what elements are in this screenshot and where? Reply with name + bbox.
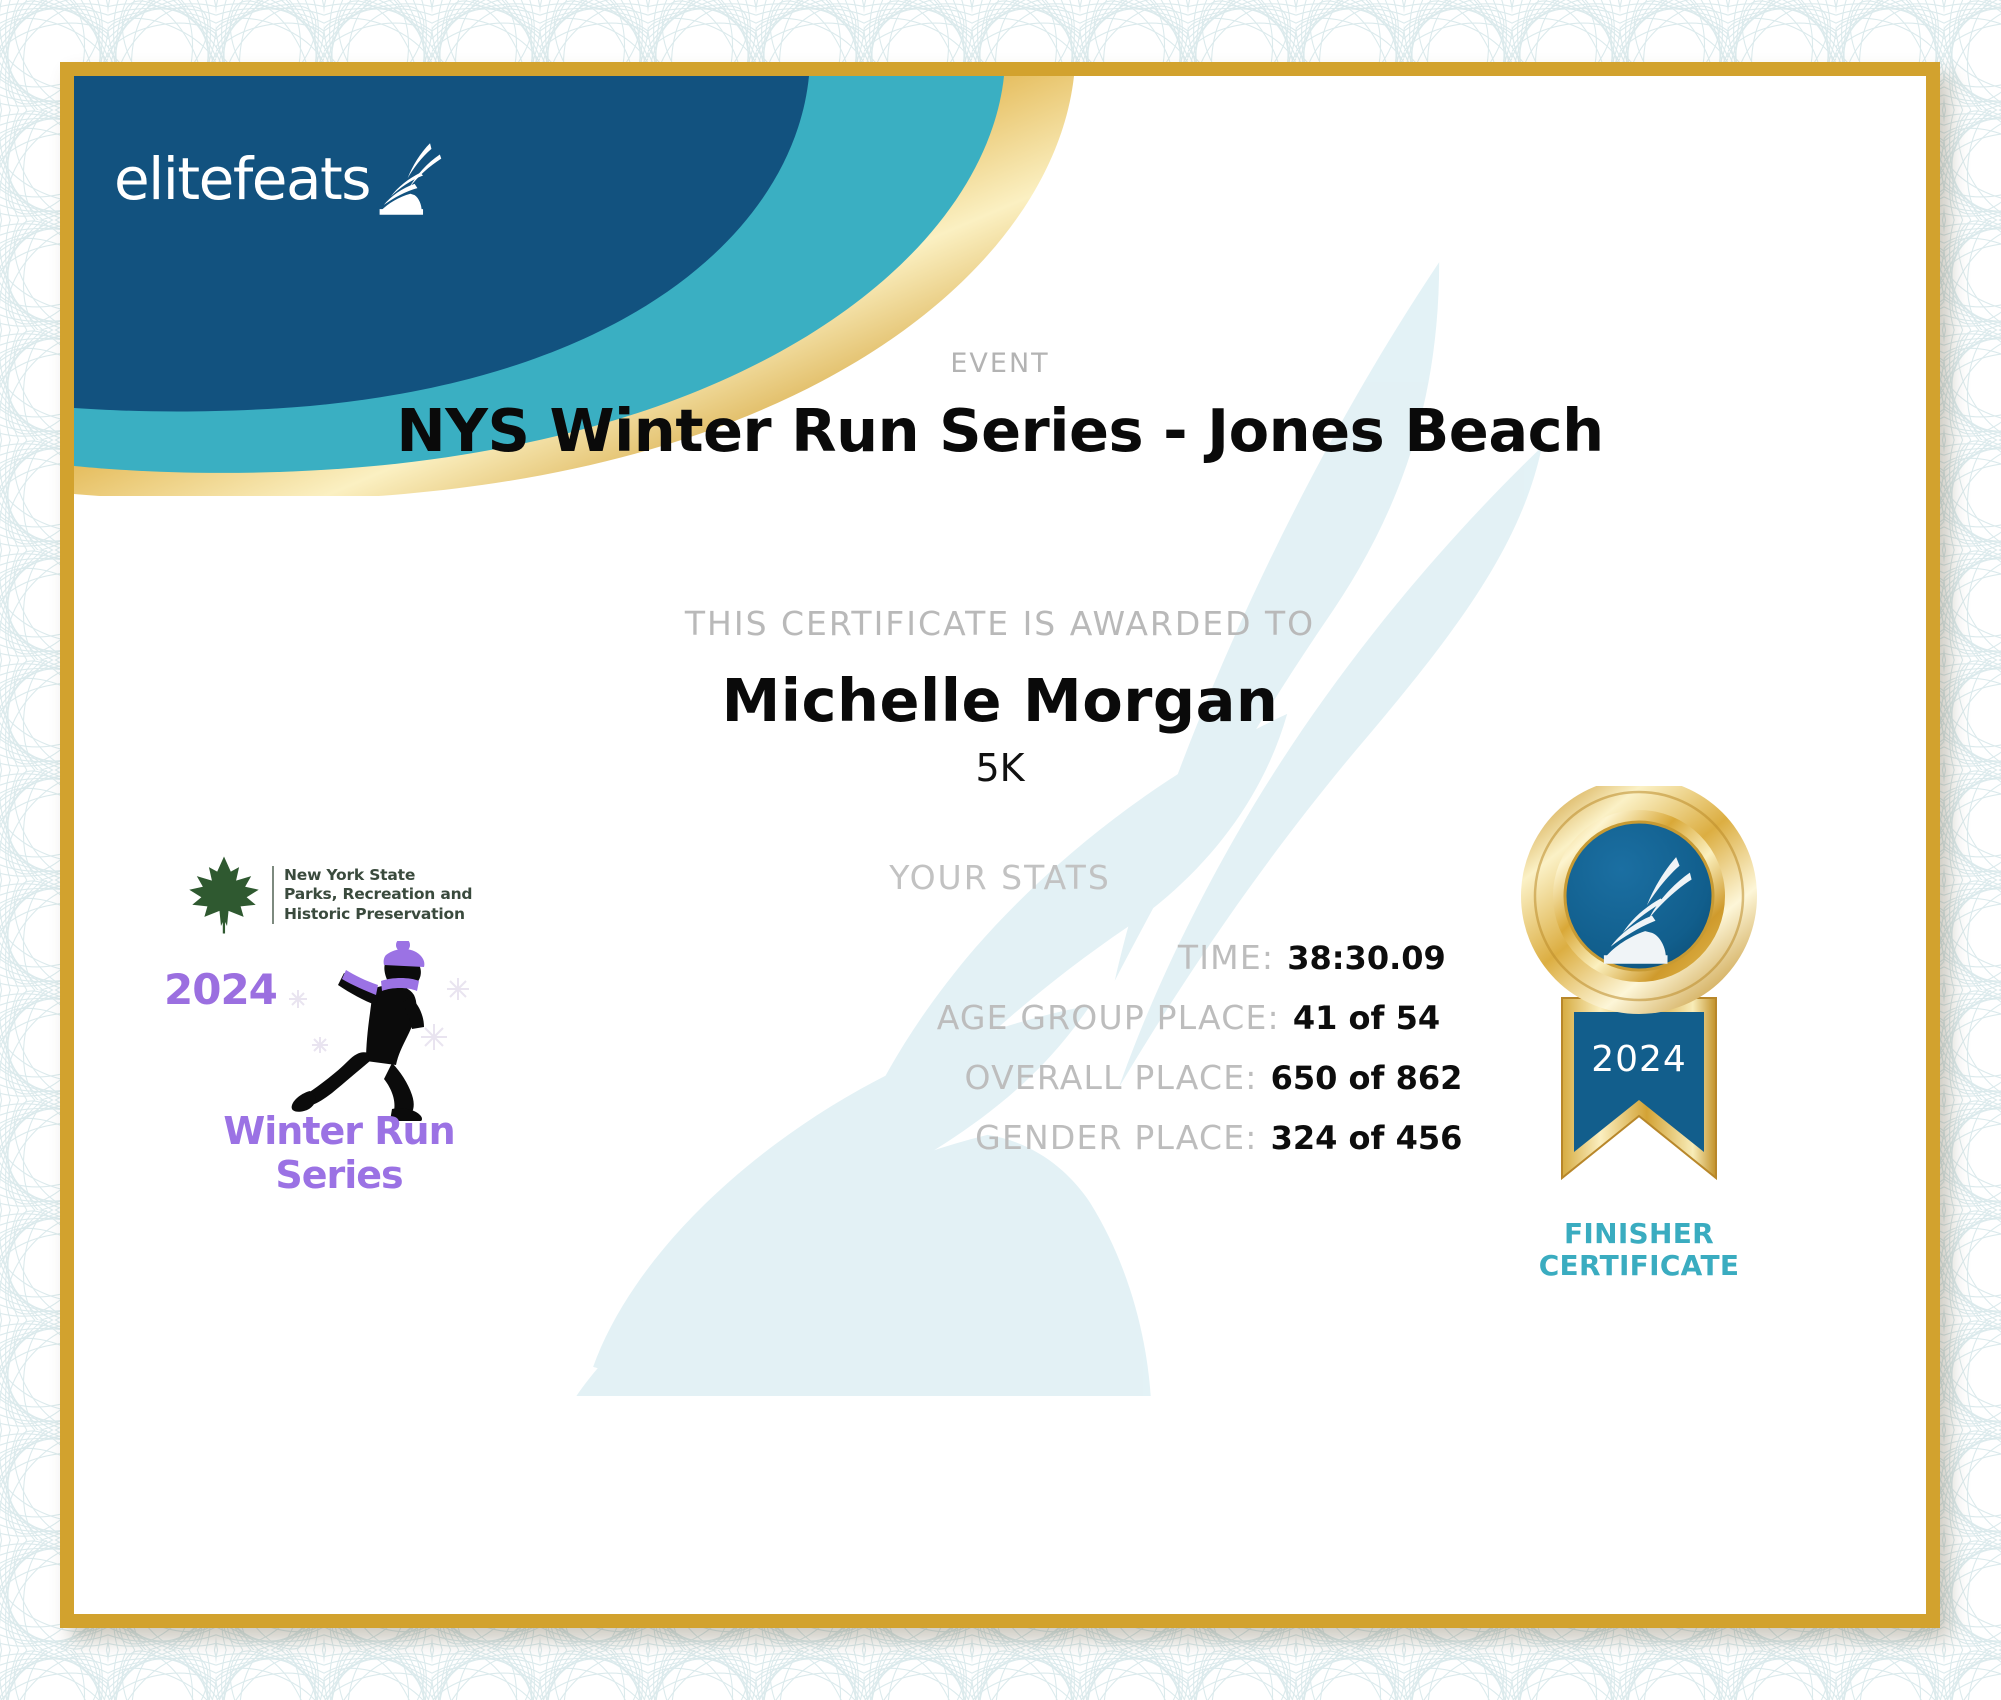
sponsor-line-3: Historic Preservation <box>284 905 472 925</box>
race-distance: 5K <box>74 746 1926 790</box>
gold-frame-border: elitefeats EVENT NYS Winter Run Series -… <box>60 62 1940 1628</box>
stat-value: 324 of 456 <box>1258 1119 1463 1157</box>
sponsor-line-1: New York State <box>284 866 472 886</box>
series-title: Winter Run Series <box>154 1109 524 1197</box>
nys-parks-text: New York State Parks, Recreation and His… <box>272 866 472 925</box>
stat-value: 38:30.09 <box>1274 939 1446 977</box>
seal-caption-line-1: FINISHER <box>1474 1218 1804 1250</box>
sponsor-line-2: Parks, Recreation and <box>284 885 472 905</box>
certificate-content: EVENT NYS Winter Run Series - Jones Beac… <box>74 76 1926 1614</box>
stat-label: OVERALL PLACE: <box>538 1058 1258 1097</box>
svg-text:2024: 2024 <box>1591 1039 1687 1080</box>
running-person-icon <box>262 941 492 1121</box>
awarded-to-label: THIS CERTIFICATE IS AWARDED TO <box>74 604 1926 643</box>
series-year: 2024 <box>164 965 277 1014</box>
event-title: NYS Winter Run Series - Jones Beach <box>74 396 1926 465</box>
stat-label: TIME: <box>554 938 1274 977</box>
seal-medal-graphic: 2024 <box>1474 786 1804 1216</box>
seal-caption-line-2: CERTIFICATE <box>1474 1250 1804 1282</box>
nys-parks-logo: New York State Parks, Recreation and His… <box>186 854 476 936</box>
seal-caption: FINISHER CERTIFICATE <box>1474 1218 1804 1283</box>
stat-value: 650 of 862 <box>1258 1059 1463 1097</box>
finisher-seal: 2024 <box>1474 786 1804 1316</box>
recipient-name: Michelle Morgan <box>74 666 1926 735</box>
certificate-body: elitefeats EVENT NYS Winter Run Series -… <box>74 76 1926 1614</box>
stat-value: 41 of 54 <box>1280 999 1440 1037</box>
winter-run-series-logo: 2024 <box>154 941 524 1171</box>
event-label: EVENT <box>74 348 1926 379</box>
stat-label: GENDER PLACE: <box>538 1118 1258 1157</box>
stat-label: AGE GROUP PLACE: <box>560 998 1280 1037</box>
maple-leaf-icon <box>186 855 262 935</box>
certificate-page: elitefeats EVENT NYS Winter Run Series -… <box>0 0 2001 1700</box>
